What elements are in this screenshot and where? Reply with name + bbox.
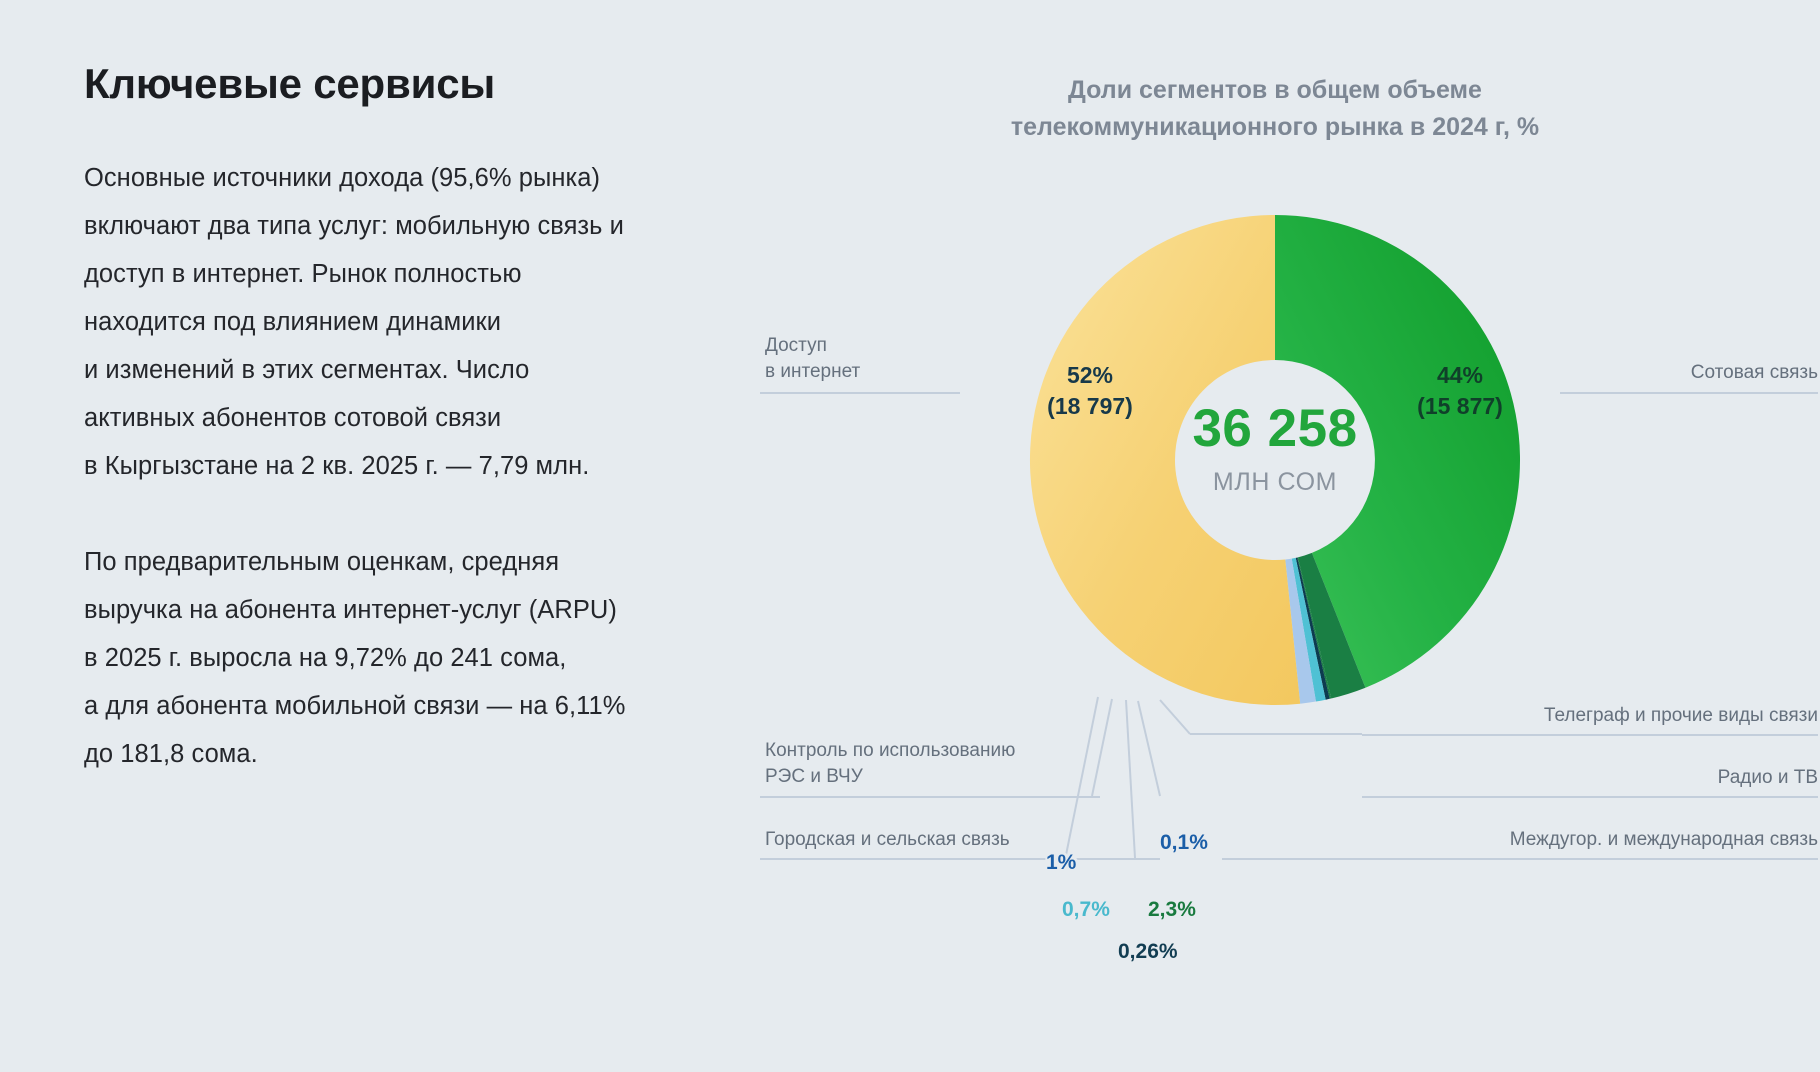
paragraph-2-line-4: а для абонента мобильной связи — на 6,11… — [84, 682, 804, 730]
category-telegraph: Телеграф и прочие виды связи — [1362, 703, 1818, 729]
chip-radio-tv: 2,3% — [1148, 899, 1196, 920]
paragraph-1-line-1: Основные источники дохода (95,6% рынка) — [84, 154, 804, 202]
chip-intercity: 0,26% — [1118, 941, 1178, 962]
chart-title: Доли сегментов в общем объеме телекоммун… — [860, 72, 1690, 146]
category-intercity: Междугор. и международная связь — [1222, 827, 1818, 853]
category-internet-line-1: Доступ — [765, 333, 860, 359]
chip-city-rural: 0,7% — [1062, 899, 1110, 920]
category-intercity-label: Междугор. и международная связь — [1222, 827, 1818, 853]
leader-intercity — [1222, 858, 1818, 860]
category-city-rural: Городская и сельская связь — [765, 827, 1010, 853]
paragraph-2-line-2: выручка на абонента интернет-услуг (ARPU… — [84, 586, 804, 634]
chip-telegraph: 0,1% — [1160, 832, 1208, 853]
infographic-page: Ключевые сервисы Основные источники дохо… — [0, 0, 1820, 1072]
leader-rescontrol — [760, 796, 1100, 798]
chart-title-line-2: телекоммуникационного рынка в 2024 г, % — [860, 109, 1690, 146]
category-city-rural-label: Городская и сельская связь — [765, 827, 1010, 853]
donut-svg — [860, 200, 1690, 700]
donut-chart: 52% (18 797) 44% (15 877) 36 258 МЛН СОМ — [860, 200, 1690, 700]
leader-radiotv — [1362, 796, 1818, 798]
paragraph-2-line-1: По предварительным оценкам, средняя — [84, 538, 804, 586]
category-res-control-line-1: Контроль по использованию — [765, 738, 1015, 764]
paragraph-2-line-3: в 2025 г. выросла на 9,72% до 241 сома, — [84, 634, 804, 682]
leader-telegraph — [1362, 734, 1818, 736]
paragraph-1: Основные источники дохода (95,6% рынка) … — [84, 154, 804, 490]
paragraph-1-line-7: в Кыргызстане на 2 кв. 2025 г. — 7,79 мл… — [84, 442, 804, 490]
chart-title-line-1: Доли сегментов в общем объеме — [860, 72, 1690, 109]
category-res-control: Контроль по использованию РЭС и ВЧУ — [765, 738, 1015, 790]
chart-column: Доли сегментов в общем объеме телекоммун… — [860, 0, 1820, 1072]
leader-cityrural — [760, 858, 1160, 860]
category-cellular-label: Сотовая связь — [1560, 360, 1818, 386]
category-cellular: Сотовая связь — [1560, 360, 1818, 386]
paragraph-2: По предварительным оценкам, средняя выру… — [84, 538, 804, 778]
paragraph-1-line-5: и изменений в этих сегментах. Число — [84, 346, 804, 394]
category-telegraph-label: Телеграф и прочие виды связи — [1362, 703, 1818, 729]
category-internet: Доступ в интернет — [765, 333, 860, 385]
page-title: Ключевые сервисы — [84, 60, 804, 108]
category-radio-tv-label: Радио и ТВ — [1362, 765, 1818, 791]
slice-internet[interactable] — [1030, 215, 1300, 705]
category-radio-tv: Радио и ТВ — [1362, 765, 1818, 791]
paragraph-1-line-3: доступ в интернет. Рынок полностью — [84, 250, 804, 298]
paragraph-1-line-4: находится под влиянием динамики — [84, 298, 804, 346]
paragraph-1-line-6: активных абонентов сотовой связи — [84, 394, 804, 442]
category-res-control-line-2: РЭС и ВЧУ — [765, 764, 1015, 790]
paragraph-2-line-5: до 181,8 сома. — [84, 730, 804, 778]
paragraph-1-line-2: включают два типа услуг: мобильную связь… — [84, 202, 804, 250]
left-column: Ключевые сервисы Основные источники дохо… — [84, 60, 804, 778]
chip-res-control: 1% — [1046, 852, 1076, 873]
category-internet-line-2: в интернет — [765, 359, 860, 385]
